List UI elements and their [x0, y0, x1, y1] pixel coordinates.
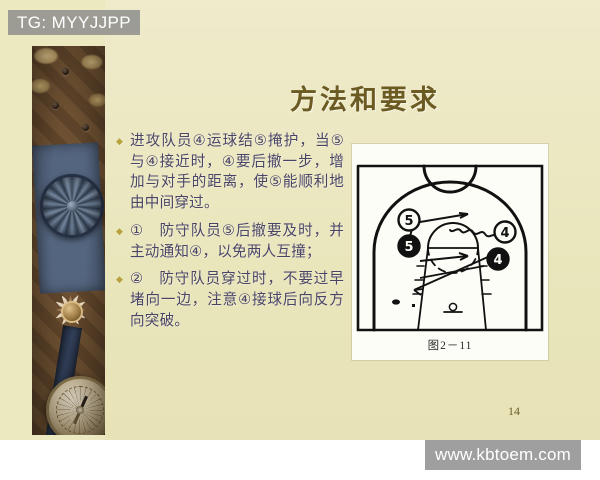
figure-caption: 图2－11	[352, 337, 548, 353]
ink-mark	[412, 304, 415, 307]
player-marker-4-filled: 4	[488, 249, 509, 270]
bullet-text: ② 防守队员穿过时，不要过早堵向一边，注意④接球后向反方向突破。	[130, 269, 344, 331]
bullet-item: ◆ ② 防守队员穿过时，不要过早堵向一边，注意④接球后向反方向突破。	[116, 269, 344, 331]
player-marker-4-outline: 4	[495, 222, 516, 243]
basketball-court-diagram: 5 5 4 4	[352, 144, 548, 360]
bullet-item: ◆ ① 防守队员⑤后撤要及时，并主动通知④，以免两人互撞；	[116, 221, 344, 262]
svg-text:4: 4	[500, 226, 509, 241]
slide-body-text: ◆ 进攻队员④运球结⑤掩护，当⑤与④接近时，④要后撤一步，增加与对手的距离，使⑤…	[116, 131, 344, 338]
presentation-slide: 方法和要求 ◆ 进攻队员④运球结⑤掩护，当⑤与④接近时，④要后撤一步，增加与对手…	[0, 0, 600, 440]
svg-text:5: 5	[404, 214, 413, 229]
decorative-sidebar-image	[32, 46, 105, 435]
bullet-text: ① 防守队员⑤后撤要及时，并主动通知④，以免两人互撞；	[130, 221, 344, 262]
player-marker-5-outline: 5	[399, 210, 420, 231]
slide-title: 方法和要求	[200, 78, 530, 117]
bullet-item: ◆ 进攻队员④运球结⑤掩护，当⑤与④接近时，④要后撤一步，增加与对手的距离，使⑤…	[116, 131, 344, 214]
slide-page-number: 14	[508, 404, 520, 419]
court-diagram-svg: 5 5 4 4	[352, 144, 548, 360]
sidebar-vignette	[32, 46, 105, 435]
bullet-diamond-icon: ◆	[116, 221, 130, 236]
player-marker-5-filled: 5	[399, 236, 420, 257]
watermark-top-left: TG: MYYJJPP	[8, 10, 140, 35]
watermark-bottom-right: www.kbtoem.com	[425, 440, 581, 470]
bullet-diamond-icon: ◆	[116, 131, 130, 146]
bullet-diamond-icon: ◆	[116, 269, 130, 284]
screenshot-stage: 方法和要求 ◆ 进攻队员④运球结⑤掩护，当⑤与④接近时，④要后撤一步，增加与对手…	[0, 0, 600, 480]
ink-mark	[392, 299, 400, 304]
bullet-text: 进攻队员④运球结⑤掩护，当⑤与④接近时，④要后撤一步，增加与对手的距离，使⑤能顺…	[130, 131, 344, 214]
svg-text:4: 4	[493, 253, 502, 268]
svg-text:5: 5	[404, 240, 413, 255]
